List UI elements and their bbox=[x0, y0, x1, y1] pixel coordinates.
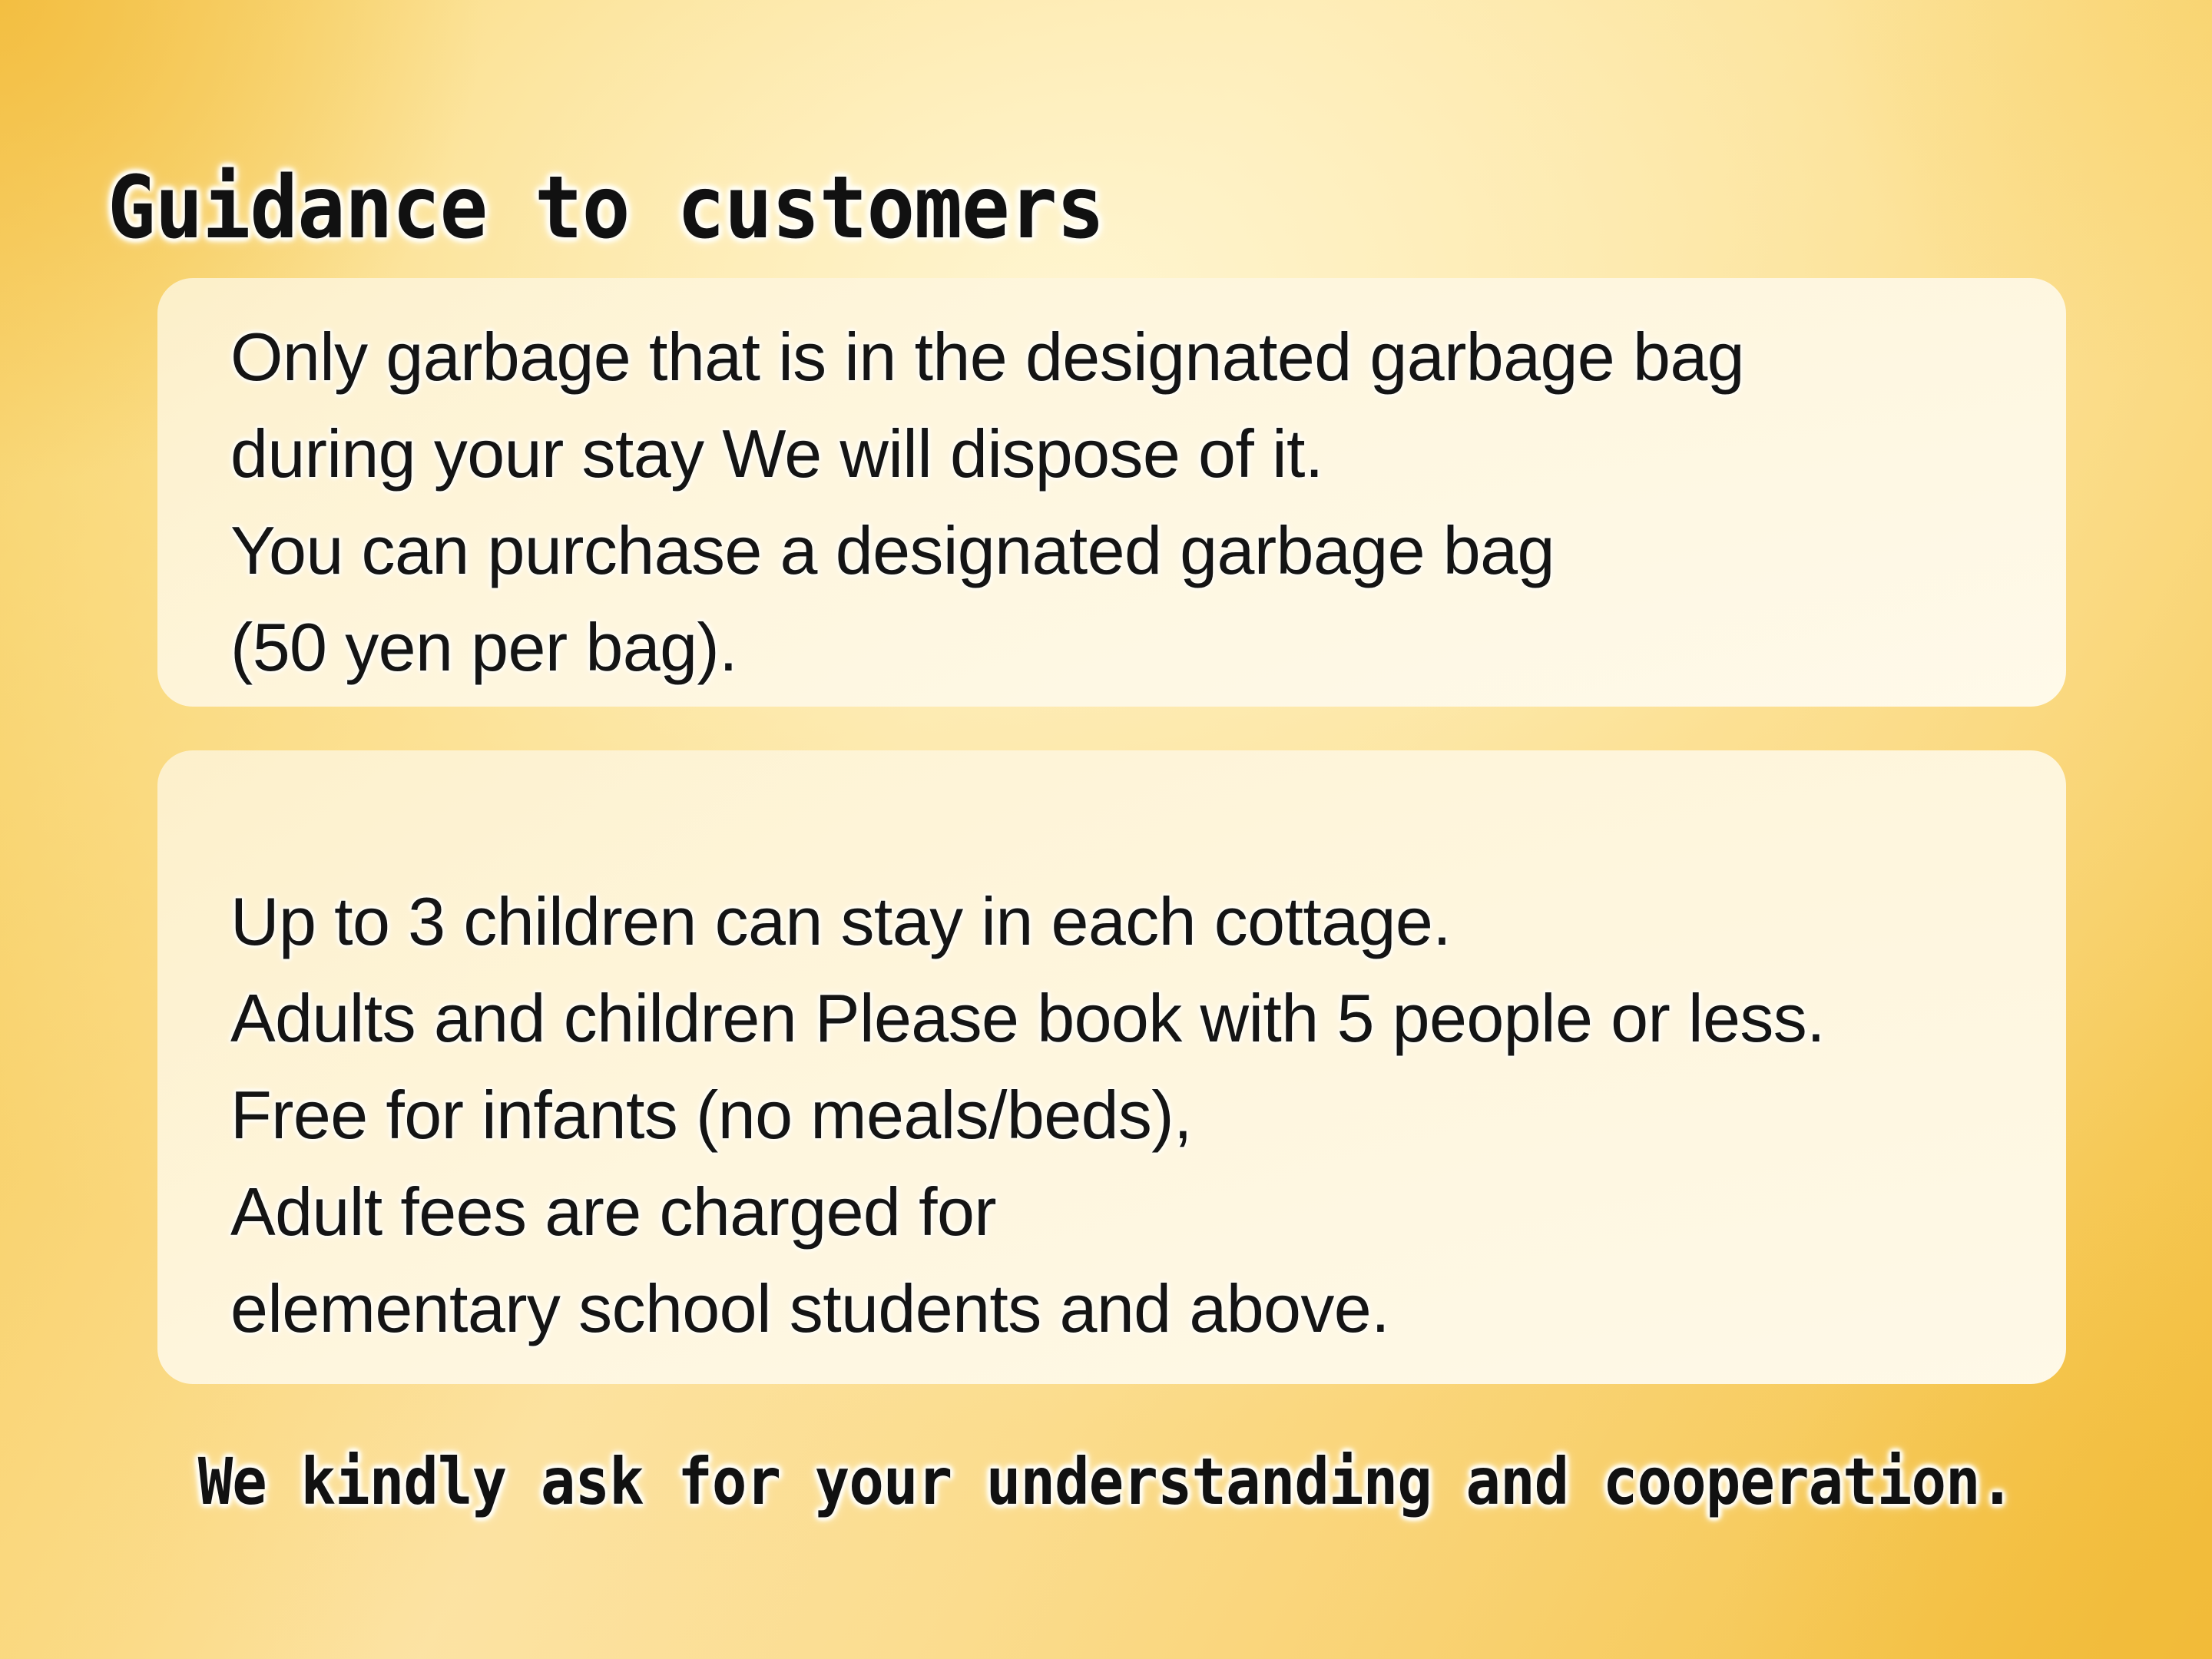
closing-request-text: We kindly ask for your understanding and… bbox=[111, 1444, 2101, 1519]
policy-line: during your stay We will dispose of it. bbox=[230, 406, 2020, 502]
policy-line: You can purchase a designated garbage ba… bbox=[230, 502, 2020, 599]
garbage-policy-text: Only garbage that is in the designated g… bbox=[230, 309, 2020, 696]
policy-line: elementary school students and above. bbox=[230, 1260, 2020, 1357]
garbage-policy-card: Only garbage that is in the designated g… bbox=[157, 278, 2066, 707]
occupancy-policy-card: Up to 3 children can stay in each cottag… bbox=[157, 750, 2066, 1384]
occupancy-policy-text: Up to 3 children can stay in each cottag… bbox=[230, 873, 2020, 1357]
policy-line: Free for infants (no meals/beds), bbox=[230, 1067, 2020, 1164]
policy-line: Up to 3 children can stay in each cottag… bbox=[230, 873, 2020, 970]
guidance-poster: Guidance to customers Only garbage that … bbox=[0, 0, 2212, 1659]
policy-line: Adult fees are charged for bbox=[230, 1164, 2020, 1260]
policy-line: (50 yen per bag). bbox=[230, 599, 2020, 696]
page-title: Guidance to customers bbox=[108, 164, 1104, 254]
policy-line: Only garbage that is in the designated g… bbox=[230, 309, 2020, 406]
policy-line: Adults and children Please book with 5 p… bbox=[230, 970, 2020, 1067]
